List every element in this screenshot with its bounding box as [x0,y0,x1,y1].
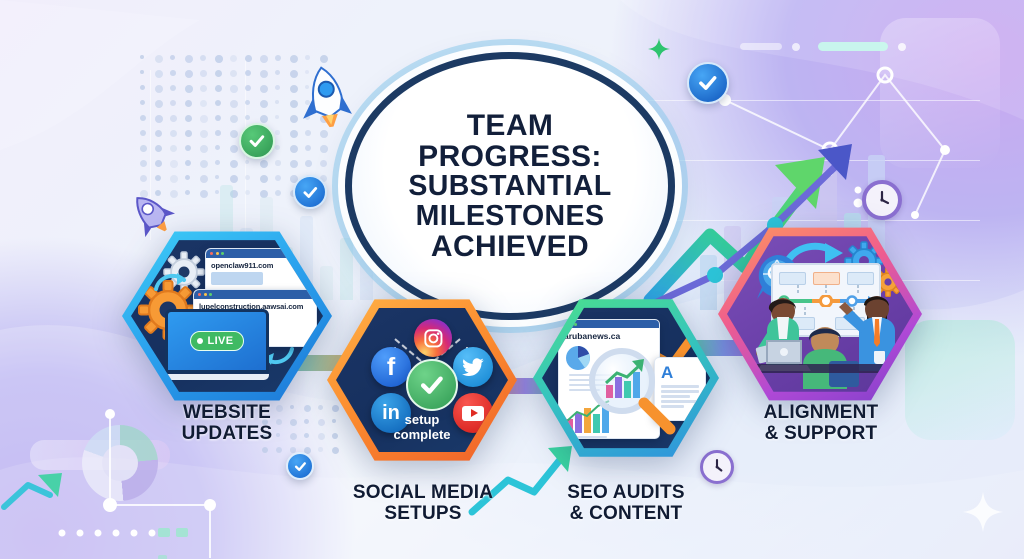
laptop-screen: LIVE [165,309,269,373]
trend-arrow-icon [0,455,70,515]
site-url-3: arubanews.ca [559,328,659,343]
title-line-3: Substantial [408,172,611,202]
check-circle-icon [406,359,458,411]
status-badge-live: LIVE [190,331,243,351]
laptop-base [165,374,269,380]
facebook-icon[interactable]: f [371,347,411,387]
title-line-5: Achieved [408,231,611,262]
pillar-website-updates[interactable]: openclaw911.com lupelconstruction.aawsai… [122,228,332,404]
pillar-seo-audits-content[interactable]: arubanews.ca [533,296,719,460]
coffee-cup-icon [874,351,885,364]
title-line-4: Milestones [408,202,611,232]
laptop-icon: LIVE [165,309,269,383]
caption-line: Alignment [716,403,926,424]
workflow-chip [779,272,806,285]
check-circle-icon [687,62,729,104]
sparkle-icon [963,492,1003,532]
caption-social-media-setups: Social Media Setups [318,483,528,524]
pillar-alignment-support[interactable] [718,224,922,404]
caption-line: & Support [716,424,926,445]
browser-titlebar [194,290,316,299]
infographic-canvas: Team Progress: Substantial Milestones Ac… [0,0,1024,559]
pillar-social-media-setups[interactable]: f in setup complete [327,296,517,464]
magnifier-icon [584,343,684,443]
live-label: LIVE [207,335,233,347]
title-medallion: Team Progress: Substantial Milestones Ac… [345,52,675,320]
clock-icon [862,180,902,220]
title-line-2: Progress: [408,141,611,172]
refresh-arrow-icon [265,345,295,369]
title-line-1: Team [408,110,611,141]
caption-alignment-support: Alignment & Support [716,403,926,444]
caption-line: Updates [120,424,334,445]
caption-website-updates: Website Updates [120,403,334,444]
sparkle-icon [648,38,670,60]
caption-line: SEO Audits [528,483,724,504]
caption-line: Website [120,403,334,424]
page-title: Team Progress: Substantial Milestones Ac… [394,110,625,263]
caption-line: Social Media [318,483,528,504]
workflow-chip [813,272,840,285]
caption-line: & Content [528,504,724,525]
check-circle-icon [239,123,275,159]
caption-line: Setups [318,504,528,525]
rocket-icon [287,58,356,132]
twitter-icon[interactable] [453,347,493,387]
instagram-icon[interactable] [414,319,452,357]
workflow-chip [847,272,874,285]
caption-seo-audits-content: SEO Audits & Content [528,483,724,524]
check-circle-icon [286,452,314,480]
check-circle-icon [293,175,327,209]
